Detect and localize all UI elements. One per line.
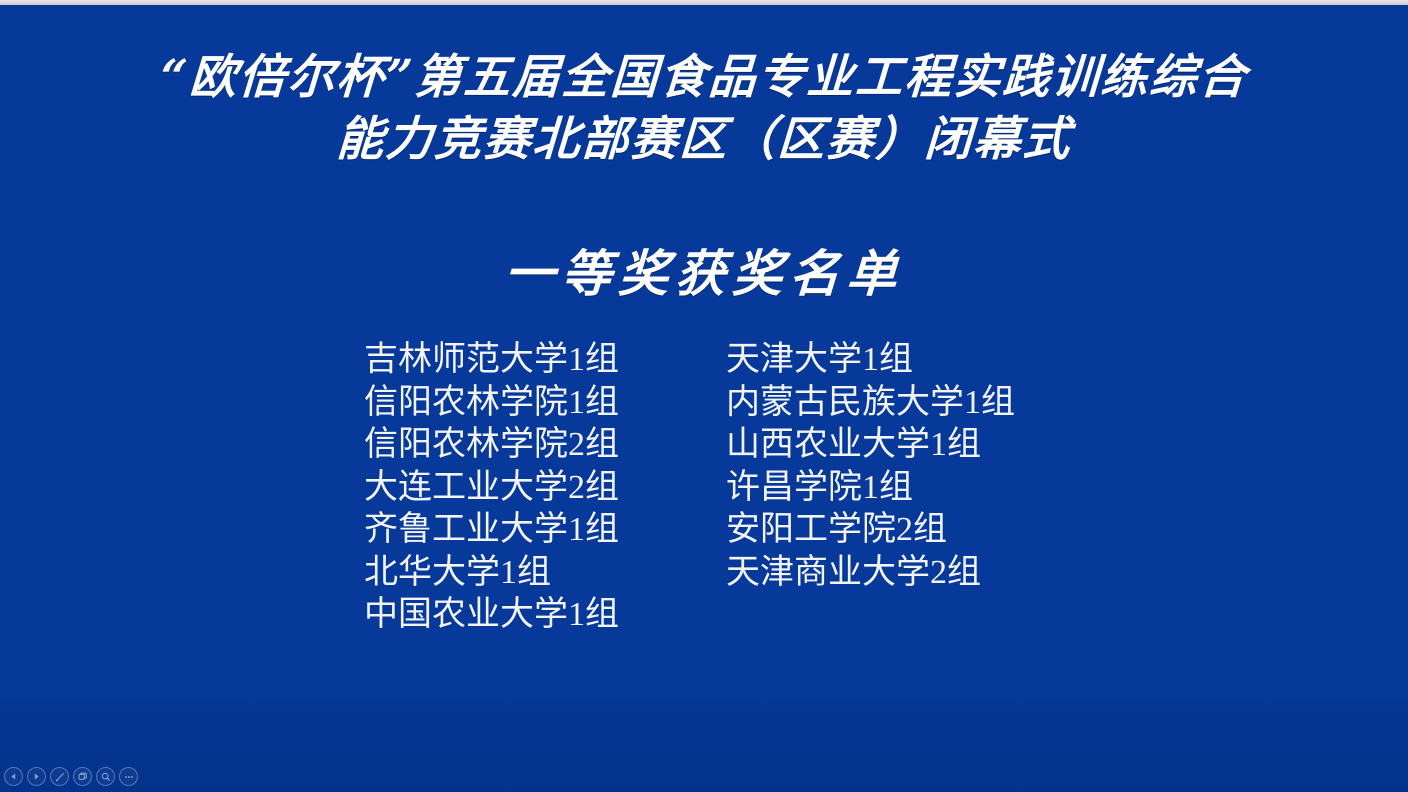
slide-canvas[interactable]: “欧倍尔杯”第五届全国食品专业工程实践训练综合 能力竞赛北部赛区（区赛）闭幕式 … — [0, 5, 1408, 792]
slide-title: “欧倍尔杯”第五届全国食品专业工程实践训练综合 能力竞赛北部赛区（区赛）闭幕式 — [0, 47, 1408, 171]
presentation-viewport: “欧倍尔杯”第五届全国食品专业工程实践训练综合 能力竞赛北部赛区（区赛）闭幕式 … — [0, 0, 1408, 792]
pen-annotate-button[interactable] — [50, 767, 69, 786]
list-item: 天津大学1组 — [726, 339, 1015, 382]
previous-slide-button[interactable] — [4, 767, 23, 786]
list-item: 吉林师范大学1组 — [364, 339, 619, 382]
next-slide-button[interactable] — [27, 767, 46, 786]
list-item: 安阳工学院2组 — [726, 509, 1015, 552]
all-slides-button[interactable] — [73, 767, 92, 786]
window-top-strip — [0, 0, 1408, 5]
list-item: 信阳农林学院2组 — [364, 424, 619, 467]
ellipsis-icon — [123, 771, 135, 783]
list-item: 中国农业大学1组 — [364, 594, 619, 637]
list-item: 大连工业大学2组 — [364, 467, 619, 510]
grid-slides-icon — [77, 771, 89, 783]
title-line-2: 能力竞赛北部赛区（区赛）闭幕式 — [0, 109, 1408, 171]
list-item: 北华大学1组 — [364, 552, 619, 595]
more-options-button[interactable] — [119, 767, 138, 786]
winners-left-column: 吉林师范大学1组 信阳农林学院1组 信阳农林学院2组 大连工业大学2组 齐鲁工业… — [364, 339, 619, 637]
list-item: 内蒙古民族大学1组 — [726, 382, 1015, 425]
list-item: 齐鲁工业大学1组 — [364, 509, 619, 552]
zoom-slide-button[interactable] — [96, 767, 115, 786]
pen-icon — [54, 771, 66, 783]
winners-right-column: 天津大学1组 内蒙古民族大学1组 山西农业大学1组 许昌学院1组 安阳工学院2组… — [726, 339, 1015, 594]
magnifier-icon — [100, 771, 112, 783]
previous-icon — [8, 771, 19, 782]
slide-subtitle: 一等奖获奖名单 — [0, 243, 1408, 305]
list-item: 天津商业大学2组 — [726, 552, 1015, 595]
playback-toolbar — [4, 767, 138, 786]
list-item: 许昌学院1组 — [726, 467, 1015, 510]
list-item: 信阳农林学院1组 — [364, 382, 619, 425]
next-icon — [31, 771, 42, 782]
list-item: 山西农业大学1组 — [726, 424, 1015, 467]
title-line-1: “欧倍尔杯”第五届全国食品专业工程实践训练综合 — [0, 47, 1408, 109]
